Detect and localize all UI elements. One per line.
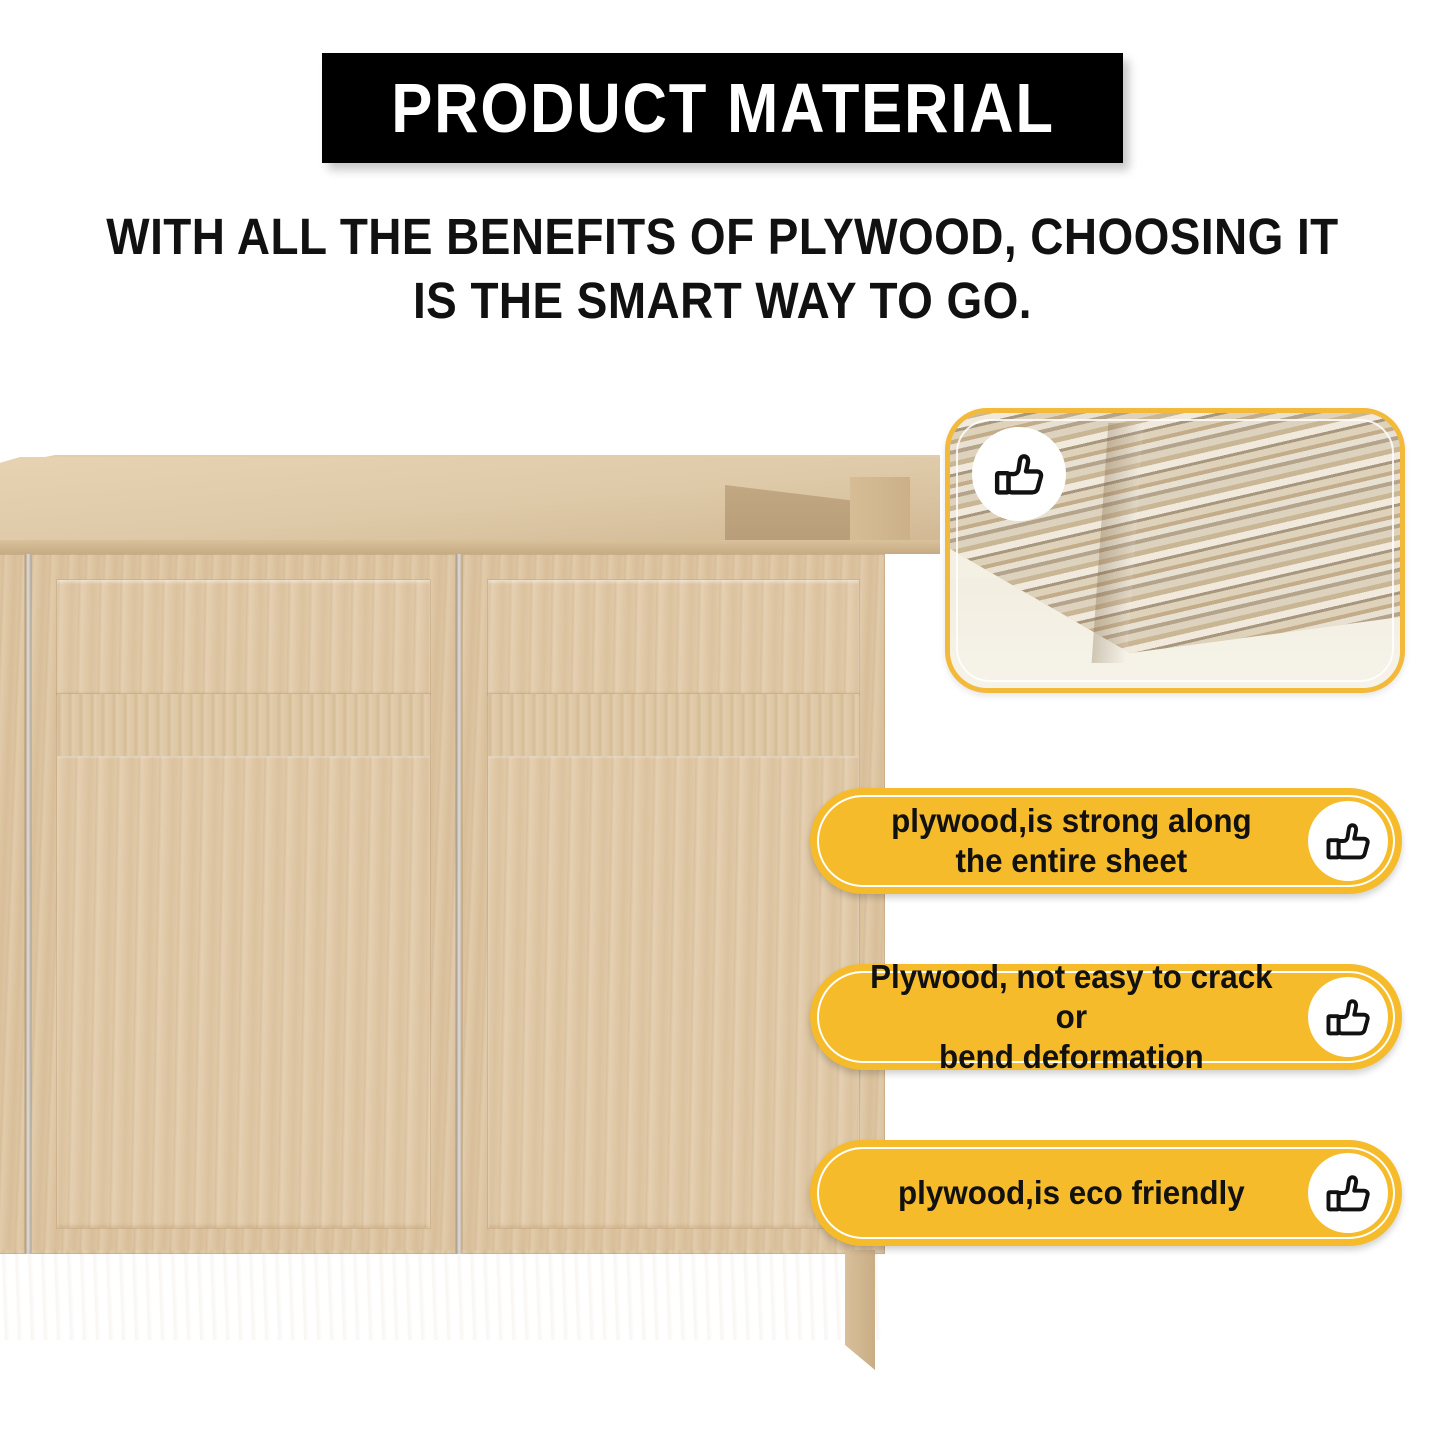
thumbs-up-icon <box>1323 992 1373 1042</box>
cabinet-door-left-partial <box>0 554 25 1254</box>
thumbs-up-icon <box>1323 816 1373 866</box>
benefit-pill-text: Plywood, not easy to crack or bend defor… <box>822 957 1295 1078</box>
benefit-text-line-1: plywood,is strong along <box>891 802 1252 839</box>
header-block: PRODUCT MATERIAL WITH ALL THE BENEFITS O… <box>0 0 1445 400</box>
benefit-pill-text: plywood,is strong along the entire sheet <box>822 801 1295 882</box>
thumbs-up-icon <box>991 446 1047 502</box>
subtitle-line-1: WITH ALL THE BENEFITS OF PLYWOOD, CHOOSI… <box>72 205 1373 269</box>
benefit-text-line-2: bend deformation <box>939 1038 1204 1075</box>
thumbs-up-badge <box>1308 801 1388 881</box>
thumbs-up-badge <box>1308 1153 1388 1233</box>
benefit-pill-strength: plywood,is strong along the entire sheet <box>810 788 1402 894</box>
thumbs-up-badge <box>1308 977 1388 1057</box>
benefit-pill-eco: plywood,is eco friendly <box>810 1140 1402 1246</box>
door-rail <box>57 694 430 756</box>
cabinet-base-right-edge <box>845 1250 875 1370</box>
benefit-text-line-1: Plywood, not easy to crack or <box>870 958 1272 1035</box>
title-banner: PRODUCT MATERIAL <box>322 53 1123 163</box>
thumbs-up-badge <box>972 427 1066 521</box>
benefit-text-line-2: the entire sheet <box>955 842 1187 879</box>
cabinet-right-side-wall <box>850 477 910 549</box>
benefit-pill-durability: Plywood, not easy to crack or bend defor… <box>810 964 1402 1070</box>
cabinet-door-row <box>0 554 940 1254</box>
benefit-text-line-1: plywood,is eco friendly <box>898 1174 1245 1211</box>
page-title: PRODUCT MATERIAL <box>391 73 1055 143</box>
door-panel <box>57 580 430 1228</box>
door-panel <box>488 580 859 1228</box>
benefit-pill-text: plywood,is eco friendly <box>822 1173 1295 1213</box>
product-photo-cabinet <box>0 455 940 1335</box>
cabinet-door-center <box>31 554 456 1254</box>
cabinet-top-edge <box>0 540 940 554</box>
thumbs-up-icon <box>1323 1168 1373 1218</box>
cabinet-base-panel <box>0 1250 885 1340</box>
door-rail <box>488 694 859 756</box>
plywood-sample-card <box>945 408 1405 693</box>
subtitle-line-2: IS THE SMART WAY TO GO. <box>72 269 1373 333</box>
cabinet-door-right <box>462 554 885 1254</box>
subtitle-block: WITH ALL THE BENEFITS OF PLYWOOD, CHOOSI… <box>0 205 1445 334</box>
